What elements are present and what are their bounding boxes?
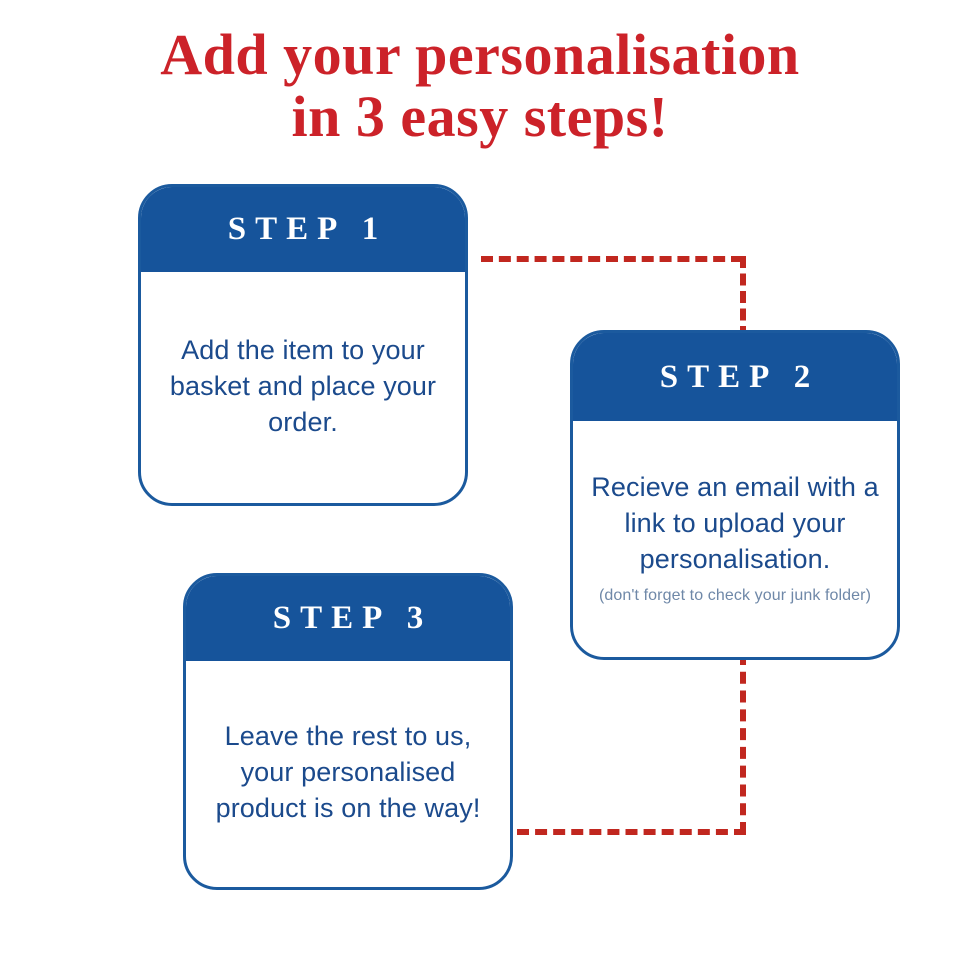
connector-step1-to-step2-horizontal xyxy=(481,256,743,262)
step-card-3-header: STEP 3 xyxy=(186,576,510,661)
connector-step1-to-step2-vertical xyxy=(740,256,746,338)
step-card-1-text: Add the item to your basket and place yo… xyxy=(151,332,455,440)
step-card-2-text: Recieve an email with a link to upload y… xyxy=(583,469,887,577)
step-card-2-body: Recieve an email with a link to upload y… xyxy=(573,421,897,657)
step-card-1-body: Add the item to your basket and place yo… xyxy=(141,272,465,503)
step-card-3-text: Leave the rest to us, your personalised … xyxy=(196,718,500,826)
page-title-line-2: in 3 easy steps! xyxy=(0,86,960,148)
step-card-2-note: (don't forget to check your junk folder) xyxy=(599,586,871,606)
step-card-3-body: Leave the rest to us, your personalised … xyxy=(186,661,510,887)
connector-step2-to-step3-horizontal xyxy=(517,829,746,835)
connector-step2-to-step3-vertical xyxy=(740,653,746,834)
step-card-3: STEP 3 Leave the rest to us, your person… xyxy=(183,573,513,890)
page-title-line-1: Add your personalisation xyxy=(0,24,960,86)
step-card-1: STEP 1 Add the item to your basket and p… xyxy=(138,184,468,506)
step-card-2-header: STEP 2 xyxy=(573,333,897,421)
step-card-2: STEP 2 Recieve an email with a link to u… xyxy=(570,330,900,660)
infographic-canvas: Add your personalisation in 3 easy steps… xyxy=(0,0,960,960)
step-card-1-header: STEP 1 xyxy=(141,187,465,272)
page-title: Add your personalisation in 3 easy steps… xyxy=(0,24,960,148)
